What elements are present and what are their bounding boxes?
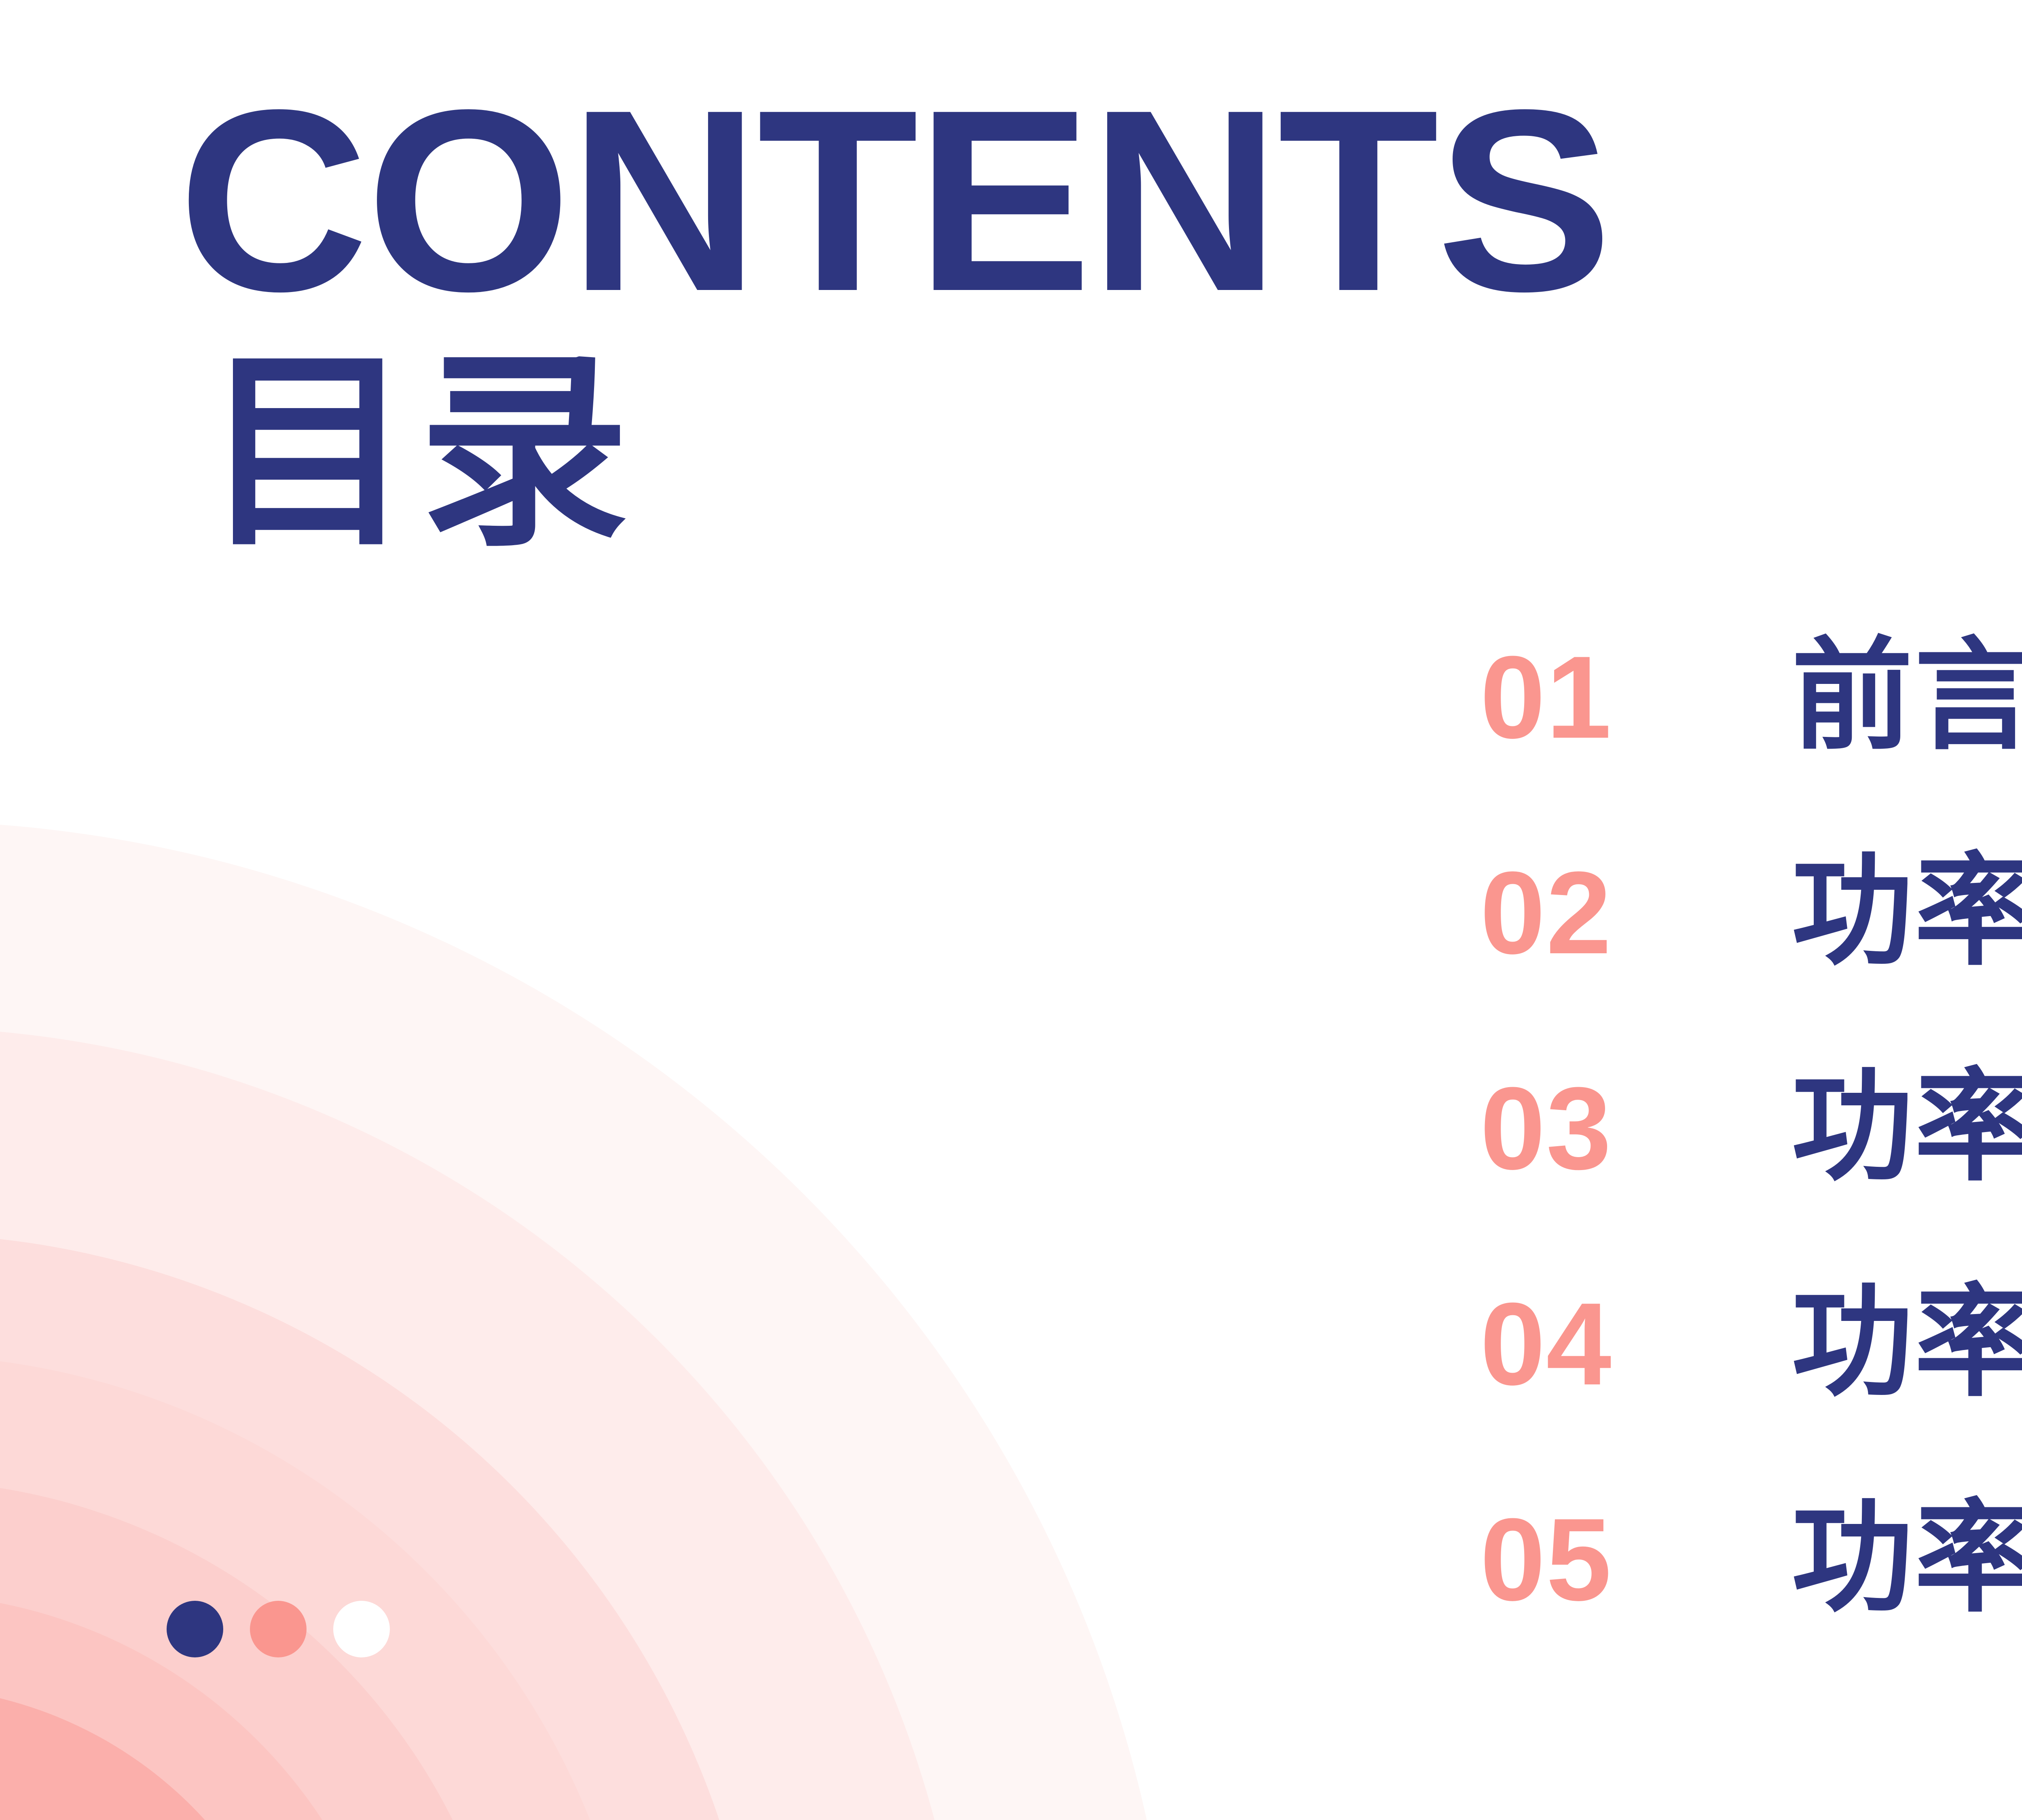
dot-navy [167,1601,223,1657]
dot-white [333,1601,390,1657]
ring-band-2 [0,1027,971,1820]
toc-item-label: 功率模块产品系列 [1791,1066,2022,1187]
table-of-contents: 01前言02功率模块产品技术03功率模块产品系列04功率模块产品特点05功率模块… [1480,635,2022,1713]
toc-item-label: 功率模块产品特点 [1791,1282,2022,1403]
toc-item-label: 功率模块产品技术 [1791,851,2022,972]
toc-item-number: 04 [1480,1285,1791,1403]
toc-item-number: 03 [1480,1070,1791,1187]
toc-item-number: 01 [1480,639,1791,756]
ring-band-1 [0,821,1177,1820]
toc-row[interactable]: 01前言 [1480,635,2022,851]
ring-band-7 [0,1687,311,1820]
dot-coral [250,1601,307,1657]
contents-slide: CONTENTS 目录 01前言02功率模块产品技术03功率模块产品系列04功率… [0,0,2022,1820]
ring-band-4 [0,1355,643,1820]
page-title-chinese: 目录 [203,352,1582,554]
toc-item-number: 02 [1480,854,1791,971]
page-title-block: CONTENTS 目录 [178,97,1582,554]
toc-row[interactable]: 02功率模块产品技术 [1480,851,2022,1066]
toc-row[interactable]: 03功率模块产品系列 [1480,1066,2022,1282]
dot-indicator-group [167,1601,390,1657]
ring-band-3 [0,1234,764,1820]
toc-row[interactable]: 04功率模块产品特点 [1480,1282,2022,1497]
toc-item-number: 05 [1480,1501,1791,1618]
toc-item-label: 功率模块产品目录 [1791,1497,2022,1619]
toc-row[interactable]: 05功率模块产品目录 [1480,1497,2022,1713]
toc-item-label: 前言 [1791,635,2022,756]
page-title-english: CONTENTS [178,97,1610,304]
